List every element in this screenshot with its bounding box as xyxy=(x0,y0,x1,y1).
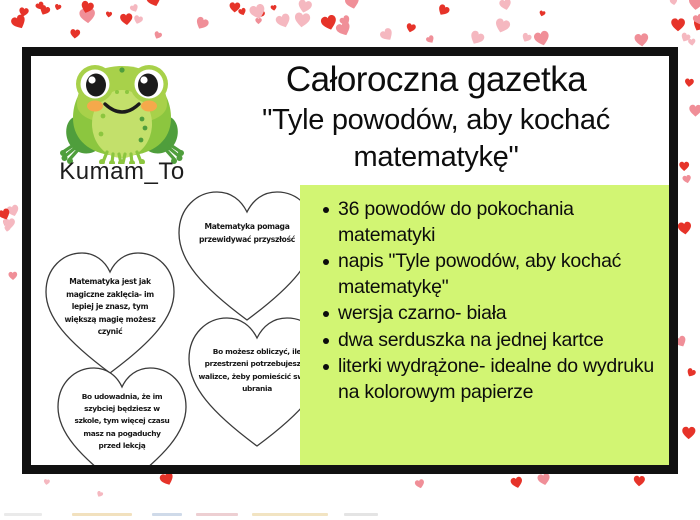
frog-icon xyxy=(59,56,185,164)
heart-school-chat: Bo udowadnia, że im szybciej będziesz w … xyxy=(51,355,193,474)
page-title: Całoroczna gazetka "Tyle powodów, aby ko… xyxy=(201,58,671,176)
heart-samples-group: Matematyka pomaga przewidywać przyszłość… xyxy=(31,166,321,474)
product-cover-card: Kumam_To Całoroczna gazetka "Tyle powodó… xyxy=(22,47,678,474)
features-list: 36 powodów do pokochania matematyki napi… xyxy=(318,197,672,405)
features-panel: 36 powodów do pokochania matematyki napi… xyxy=(300,185,678,473)
list-item: napis "Tyle powodów, aby kochać matematy… xyxy=(338,249,672,300)
title-subtitle-line1: "Tyle powodów, aby kochać xyxy=(201,102,671,139)
list-item: dwa serduszka na jednej kartce xyxy=(338,328,672,354)
heart-text: Bo udowadnia, że im szybciej będziesz w … xyxy=(51,391,193,452)
bottom-edge-artifact xyxy=(0,513,700,520)
list-item: literki wydrążone- idealne do wydruku na… xyxy=(338,354,672,405)
list-item: 36 powodów do pokochania matematyki xyxy=(338,197,672,248)
heart-text: Matematyka jest jak magiczne zaklęcia- i… xyxy=(39,276,181,339)
title-main: Całoroczna gazetka xyxy=(201,58,671,102)
list-item: wersja czarno- biała xyxy=(338,301,672,327)
